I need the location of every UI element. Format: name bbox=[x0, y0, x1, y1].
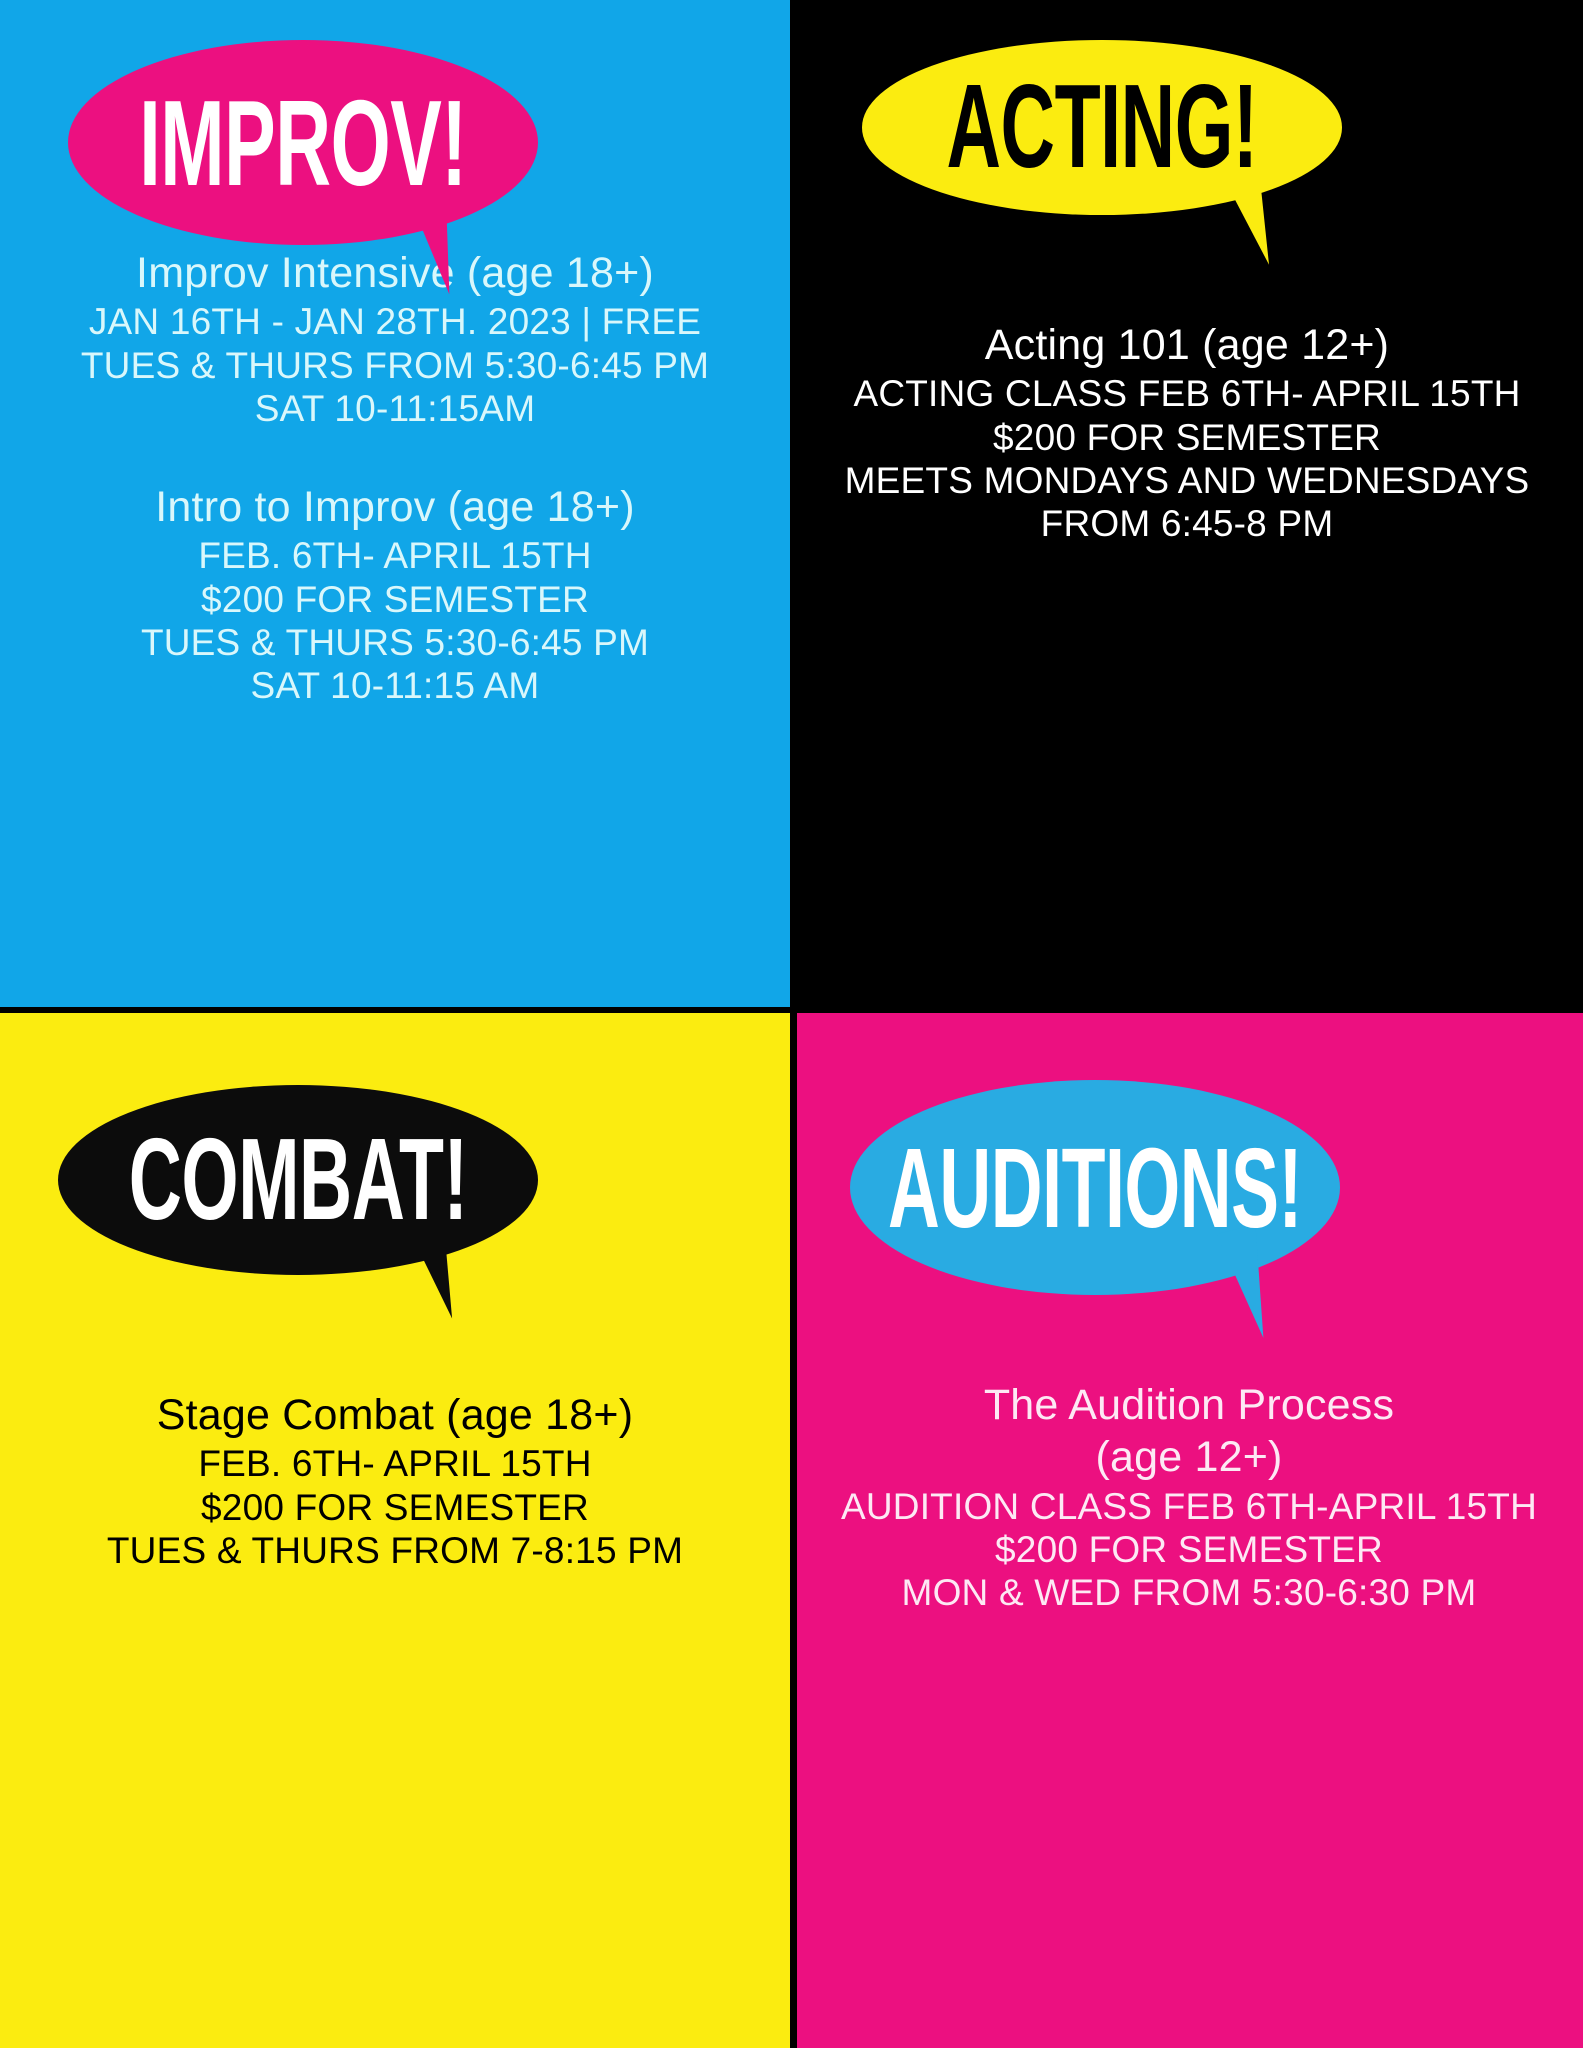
acting-bubble-label: ACTING! bbox=[946, 68, 1257, 187]
course-title-audition-process: The Audition Process bbox=[804, 1380, 1574, 1430]
auditions-course-list: The Audition Process (age 12+) AUDITION … bbox=[804, 1380, 1574, 1614]
course-detail-line: FEB. 6TH- APRIL 15TH bbox=[10, 534, 780, 577]
course-detail-line: SAT 10-11:15 AM bbox=[10, 664, 780, 707]
course-detail-line: $200 FOR SEMESTER bbox=[10, 1486, 780, 1529]
panel-acting: ACTING! Acting 101 (age 12+) ACTING CLAS… bbox=[790, 0, 1583, 1010]
course-title-improv-intensive: Improv Intensive (age 18+) bbox=[10, 248, 780, 298]
course-detail-line: TUES & THURS 5:30-6:45 PM bbox=[10, 621, 780, 664]
horizontal-divider bbox=[0, 1007, 1583, 1013]
improv-speech-bubble: IMPROV! bbox=[68, 40, 538, 245]
vertical-divider bbox=[790, 0, 797, 2048]
course-title-intro-to-improv: Intro to Improv (age 18+) bbox=[10, 482, 780, 532]
panel-improv: IMPROV! Improv Intensive (age 18+) JAN 1… bbox=[0, 0, 790, 1010]
class-schedule-poster: IMPROV! Improv Intensive (age 18+) JAN 1… bbox=[0, 0, 1583, 2048]
course-detail-line: $200 FOR SEMESTER bbox=[804, 1528, 1574, 1571]
combat-speech-bubble: COMBAT! bbox=[58, 1085, 538, 1275]
course-detail-line: TUES & THURS FROM 5:30-6:45 PM bbox=[10, 344, 780, 387]
course-detail-line: MON & WED FROM 5:30-6:30 PM bbox=[804, 1571, 1574, 1614]
acting-course-list: Acting 101 (age 12+) ACTING CLASS FEB 6T… bbox=[802, 320, 1572, 545]
course-title-stage-combat: Stage Combat (age 18+) bbox=[10, 1390, 780, 1440]
course-detail-line: $200 FOR SEMESTER bbox=[10, 578, 780, 621]
combat-course-list: Stage Combat (age 18+) FEB. 6TH- APRIL 1… bbox=[10, 1390, 780, 1572]
course-detail-line: FEB. 6TH- APRIL 15TH bbox=[10, 1442, 780, 1485]
acting-speech-bubble: ACTING! bbox=[862, 40, 1342, 215]
course-detail-line: FROM 6:45-8 PM bbox=[802, 502, 1572, 545]
course-detail-line: $200 FOR SEMESTER bbox=[802, 416, 1572, 459]
course-detail-line: JAN 16TH - JAN 28TH. 2023 | FREE bbox=[10, 300, 780, 343]
course-title-audition-process-age: (age 12+) bbox=[804, 1432, 1574, 1482]
panel-auditions: AUDITIONS! The Audition Process (age 12+… bbox=[790, 1010, 1583, 2048]
course-detail-line: ACTING CLASS FEB 6TH- APRIL 15TH bbox=[802, 372, 1572, 415]
course-detail-line: AUDITION CLASS FEB 6TH-APRIL 15TH bbox=[804, 1485, 1574, 1528]
improv-course-list: Improv Intensive (age 18+) JAN 16TH - JA… bbox=[10, 248, 780, 708]
auditions-bubble-label: AUDITIONS! bbox=[888, 1131, 1302, 1244]
panel-combat: COMBAT! Stage Combat (age 18+) FEB. 6TH-… bbox=[0, 1010, 790, 2048]
combat-bubble-label: COMBAT! bbox=[129, 1122, 468, 1238]
course-title-acting-101: Acting 101 (age 12+) bbox=[802, 320, 1572, 370]
auditions-speech-bubble: AUDITIONS! bbox=[850, 1080, 1340, 1295]
course-detail-line: SAT 10-11:15AM bbox=[10, 387, 780, 430]
section-spacer bbox=[10, 430, 780, 482]
course-detail-line: MEETS MONDAYS AND WEDNESDAYS bbox=[802, 459, 1572, 502]
course-detail-line: TUES & THURS FROM 7-8:15 PM bbox=[10, 1529, 780, 1572]
improv-bubble-label: IMPROV! bbox=[139, 82, 466, 204]
